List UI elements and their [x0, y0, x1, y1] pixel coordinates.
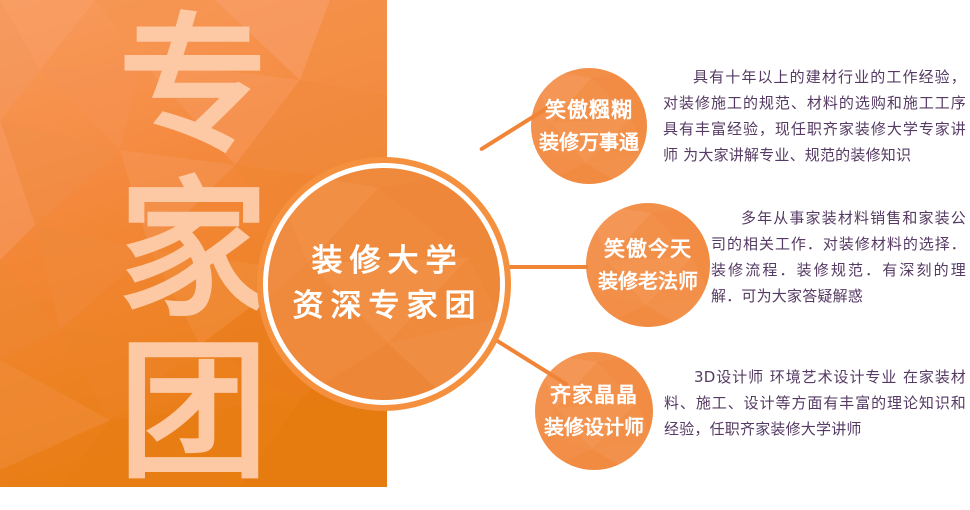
connector-line-expert-2: [500, 265, 588, 269]
expert-3-description: 3D设计师 环境艺术设计专业 在家装材料、施工、设计等方面有丰富的理论知识和经验…: [664, 364, 966, 442]
expert-2-description: 多年从事家装材料销售和家装公司的相关工作．对装修材料的选择．装修流程．装修规范．…: [711, 205, 966, 309]
banner-canvas: 专 家 团 装修大学 资深专家团: [0, 0, 970, 510]
main-circle-line-2: 资深专家团: [286, 284, 483, 329]
expert-circle-2[interactable]: 笑傲今天 装修老法师: [586, 203, 710, 327]
expert-circle-1[interactable]: 笑傲糨糊 装修万事通: [531, 68, 647, 184]
main-title-circle[interactable]: 装修大学 资深专家团: [268, 168, 500, 400]
expert-1-name: 笑傲糨糊: [545, 95, 633, 127]
expert-2-name: 笑傲今天: [604, 234, 692, 266]
main-circle-line-1: 装修大学: [305, 239, 464, 284]
expert-2-role: 装修老法师: [598, 266, 698, 296]
expert-circle-3[interactable]: 齐家晶晶 装修设计师: [535, 352, 653, 470]
expert-1-role: 装修万事通: [539, 127, 639, 157]
expert-3-name: 齐家晶晶: [550, 380, 638, 412]
expert-3-role: 装修设计师: [544, 412, 644, 442]
expert-1-description: 具有十年以上的建材行业的工作经验，对装修施工的规范、材料的选购和施工工序具有丰富…: [663, 64, 966, 168]
panel-big-char-1: 专: [0, 12, 387, 162]
